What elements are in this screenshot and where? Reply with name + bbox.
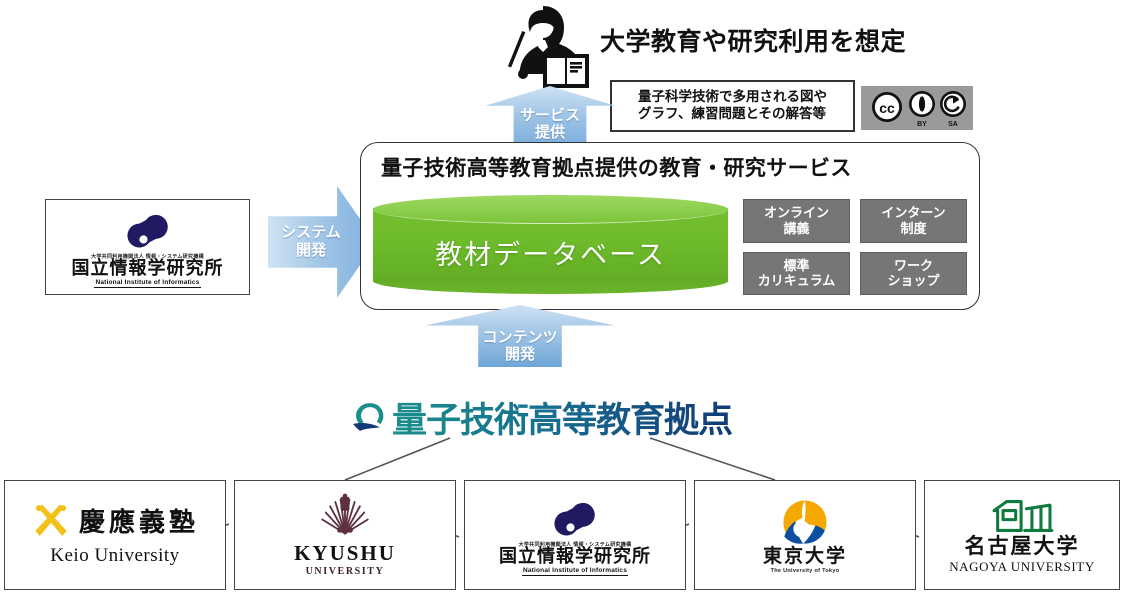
cylinder-top: [373, 195, 728, 224]
nii-source-box: 大学共同利用機関法人 情報・システム研究機構 国立情報学研究所 National…: [45, 199, 250, 295]
nagoya-mei-mark-icon: [985, 496, 1059, 536]
content-arrow-line2: 開発: [505, 346, 535, 363]
content-callout-text: 量子科学技術で多用される図や グラフ、練習問題とその解答等: [638, 89, 827, 123]
cc-sa-label: SA: [948, 121, 958, 128]
university-box-keio[interactable]: 慶應義塾 Keio University: [4, 480, 226, 590]
panel-title: 量子技術高等教育拠点提供の教育・研究サービス: [381, 152, 852, 182]
tile-workshop[interactable]: ワーク ショップ: [860, 252, 967, 296]
university-box-kyushu[interactable]: KYUSHU UNIVERSITY: [234, 480, 456, 590]
tile-online-lecture[interactable]: オンライン 講義: [743, 199, 850, 243]
system-arrow-line1: システム: [281, 224, 341, 242]
creative-commons-badge: cc BY SA: [861, 86, 973, 130]
kyushu-name-sub: UNIVERSITY: [306, 566, 385, 577]
nagoya-name-jp: 名古屋大学: [965, 536, 1080, 557]
kyushu-sunburst-icon: [317, 493, 373, 539]
materials-database-label: 教材データベース: [373, 233, 728, 272]
kyushu-name-en: KYUSHU: [294, 543, 396, 564]
service-arrow-line1: サービス: [520, 107, 580, 124]
tile-internship-program[interactable]: インターン 制度: [860, 199, 967, 243]
materials-database-cylinder: 教材データベース: [373, 195, 728, 295]
tile-standard-curriculum[interactable]: 標準 カリキュラム: [743, 252, 850, 296]
nii-source-name-jp: 国立情報学研究所: [72, 260, 224, 278]
service-tiles: オンライン 講義 インターン 制度 標準 カリキュラム ワーク ショップ: [743, 199, 967, 295]
content-callout-box: 量子科学技術で多用される図や グラフ、練習問題とその解答等: [610, 80, 855, 132]
cc-by-label: BY: [917, 121, 927, 128]
audience-note: 大学教育や研究利用を想定: [600, 22, 1020, 58]
service-panel: 量子技術高等教育拠点提供の教育・研究サービス 教材データベース オンライン 講義…: [360, 142, 980, 310]
utokyo-ginkgo-icon: [780, 497, 830, 547]
university-box-nii[interactable]: 大学共同利用機関法人 情報・システム研究機構 国立情報学研究所 National…: [464, 480, 686, 590]
content-development-arrow: コンテンツ 開発: [425, 305, 615, 367]
utokyo-name-en: The University of Tokyo: [771, 568, 840, 574]
nii-name-jp: 国立情報学研究所: [499, 548, 651, 566]
nagoya-name-en: NAGOYA UNIVERSITY: [949, 559, 1095, 575]
teacher-icon: [495, 4, 595, 94]
utokyo-name-jp: 東京大学: [763, 547, 847, 566]
keio-name-jp: 慶應義塾: [79, 510, 199, 536]
service-arrow-line2: 提供: [535, 124, 565, 141]
system-arrow-line2: 開発: [296, 242, 326, 260]
nii-source-name-en: National Institute of Informatics: [94, 279, 200, 288]
svg-text:cc: cc: [879, 100, 895, 116]
nii-logo: [544, 495, 606, 543]
university-box-nagoya[interactable]: 名古屋大学 NAGOYA UNIVERSITY: [924, 480, 1120, 590]
nii-source-logo: 大学共同利用機関法人 情報・システム研究機構 国立情報学研究所 National…: [72, 207, 224, 288]
nii-name-en: National Institute of Informatics: [522, 567, 628, 576]
keio-name-en: Keio University: [50, 545, 179, 567]
keio-crossed-pens-icon: [31, 503, 71, 543]
content-arrow-line1: コンテンツ: [482, 329, 557, 346]
university-box-utokyo[interactable]: 東京大学 The University of Tokyo: [694, 480, 916, 590]
service-provision-arrow: サービス 提供: [485, 86, 615, 144]
